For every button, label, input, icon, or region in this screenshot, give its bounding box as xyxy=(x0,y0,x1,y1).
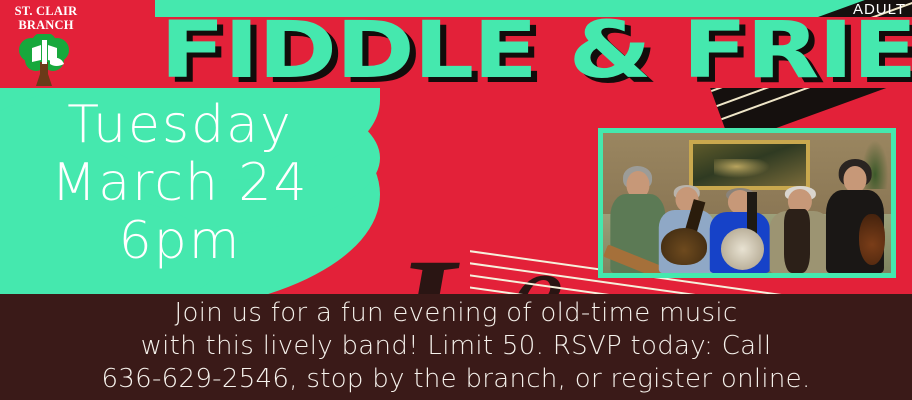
page-title: FIDDLE & FRIENDS xyxy=(160,5,912,97)
guitar-instrument xyxy=(784,209,810,273)
library-tree-logo-icon xyxy=(14,34,74,86)
description-line-3: 636-629-2546, stop by the branch, or reg… xyxy=(0,363,912,396)
event-poster: L e ST. CLAIR BRANCH FIDDLE & FRIENDS xyxy=(0,0,912,400)
violin-instrument xyxy=(859,214,885,264)
event-date-block: Tuesday March 24 6pm xyxy=(0,96,360,270)
event-description: Join us for a fun evening of old-time mu… xyxy=(0,297,912,396)
audience-tag: ADULT xyxy=(853,1,906,18)
head xyxy=(844,166,867,192)
branch-name: ST. CLAIR BRANCH xyxy=(0,4,92,32)
event-day: Tuesday xyxy=(0,96,360,154)
mandolin-instrument xyxy=(661,228,707,264)
event-date: March 24 xyxy=(0,154,360,212)
description-line-2: with this lively band! Limit 50. RSVP to… xyxy=(0,330,912,363)
description-line-1: Join us for a fun evening of old-time mu… xyxy=(0,297,912,330)
photo-content xyxy=(603,133,891,273)
branch-name-line2: BRANCH xyxy=(18,18,73,32)
band-group-photo xyxy=(598,128,896,278)
branch-name-line1: ST. CLAIR xyxy=(15,4,78,18)
event-time: 6pm xyxy=(0,212,360,270)
